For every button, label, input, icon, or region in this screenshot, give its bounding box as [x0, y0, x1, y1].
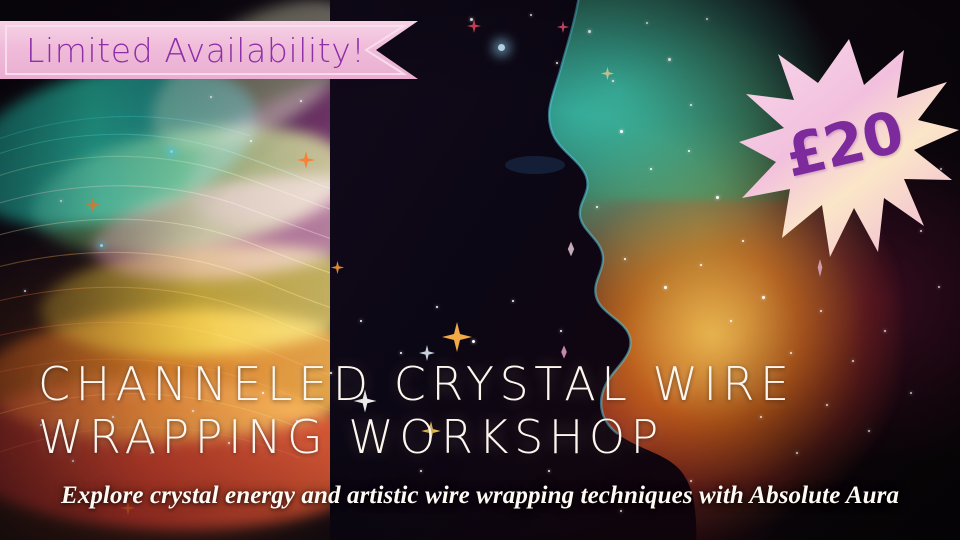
limited-availability-ribbon[interactable] — [0, 21, 418, 79]
promo-poster: Limited Availability! £20 CHANNELED CRYS… — [0, 0, 960, 540]
price-starburst-badge[interactable] — [738, 38, 960, 260]
